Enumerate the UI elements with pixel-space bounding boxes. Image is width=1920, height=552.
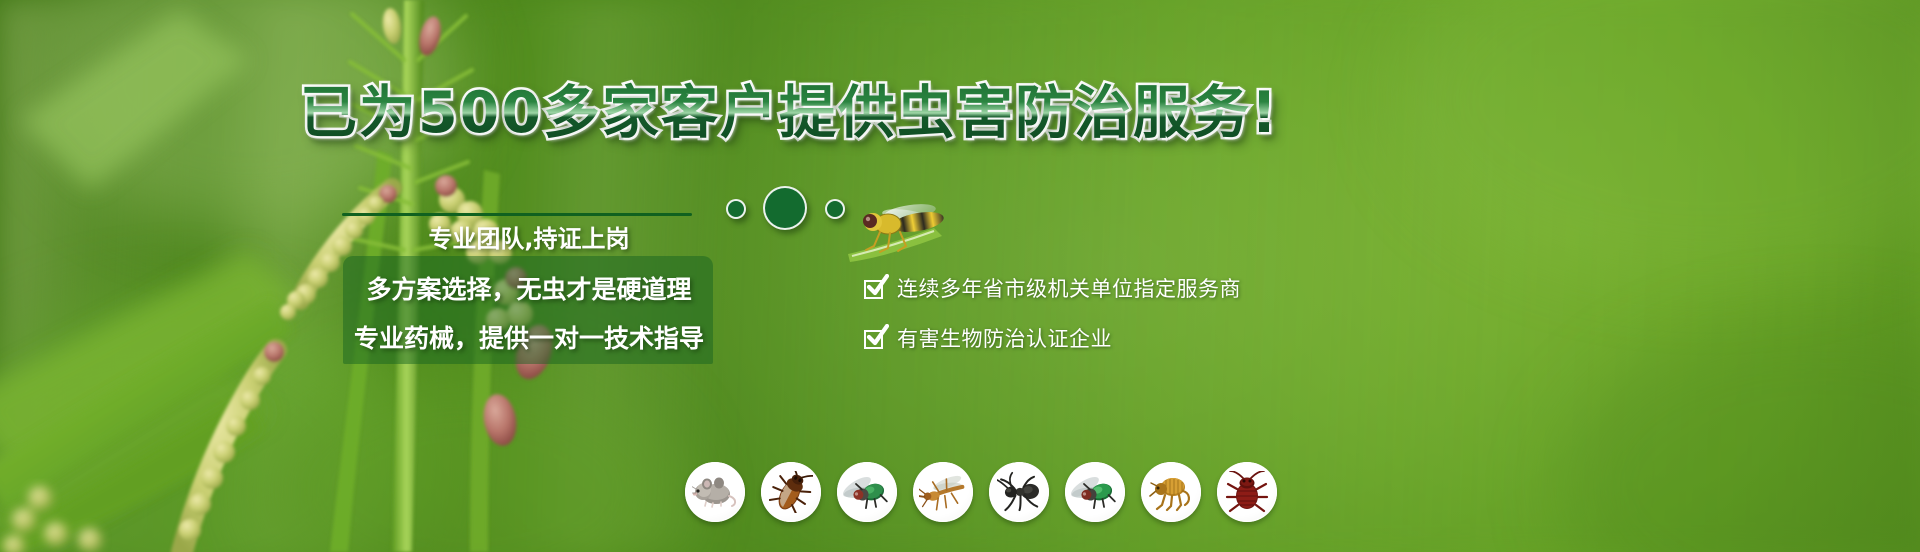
- checklist-item: 有害生物防治认证企业: [864, 322, 1294, 356]
- pest-chip-blowfly[interactable]: [1065, 462, 1125, 522]
- checkbox-checked-icon: [864, 278, 886, 300]
- decorative-dot-small-left: [726, 199, 746, 219]
- checklist-item-label: 有害生物防治认证企业: [897, 327, 1112, 351]
- pest-chip-cockroach[interactable]: [761, 462, 821, 522]
- checkbox-checked-icon: [864, 328, 886, 350]
- checklist-item-label: 连续多年省市级机关单位指定服务商: [897, 277, 1241, 301]
- pest-chip-fly[interactable]: [837, 462, 897, 522]
- flea-icon: [1149, 471, 1193, 513]
- fly-icon: [843, 472, 891, 512]
- bedbug-icon: [1225, 471, 1269, 513]
- pest-chip-bedbug[interactable]: [1217, 462, 1277, 522]
- cockroach-icon: [769, 471, 813, 513]
- feature-line-1: 专业团队,持证上岗: [343, 226, 715, 252]
- feature-line-3: 专业药械，提供一对一技术指导: [343, 325, 715, 353]
- feature-line-2: 多方案选择，无虫才是硬道理: [343, 276, 715, 304]
- pest-chip-mosquito[interactable]: [913, 462, 973, 522]
- page-headline: 已为500多家客户提供虫害防治服务!: [300, 78, 1290, 148]
- credentials-checklist: 连续多年省市级机关单位指定服务商 有害生物防治认证企业: [864, 272, 1294, 372]
- mouse-icon: [692, 472, 738, 512]
- pest-chip-flea[interactable]: [1141, 462, 1201, 522]
- feature-text-group: 专业团队,持证上岗 多方案选择，无虫才是硬道理 专业药械，提供一对一技术指导: [343, 214, 715, 374]
- decorative-dot-large: [763, 186, 807, 230]
- checklist-item: 连续多年省市级机关单位指定服务商: [864, 272, 1294, 306]
- mosquito-icon: [919, 472, 967, 512]
- promo-banner: 已为500多家客户提供虫害防治服务! 已为500多家客户提供虫害防治服务!: [0, 0, 1920, 552]
- hoverfly-icon: [848, 196, 968, 266]
- pest-chip-ant[interactable]: [989, 462, 1049, 522]
- blowfly-icon: [1071, 472, 1119, 512]
- ant-icon: [997, 471, 1041, 513]
- pest-chip-mouse[interactable]: [685, 462, 745, 522]
- pest-icon-row: [685, 462, 1277, 522]
- decorative-dot-small-right: [825, 199, 845, 219]
